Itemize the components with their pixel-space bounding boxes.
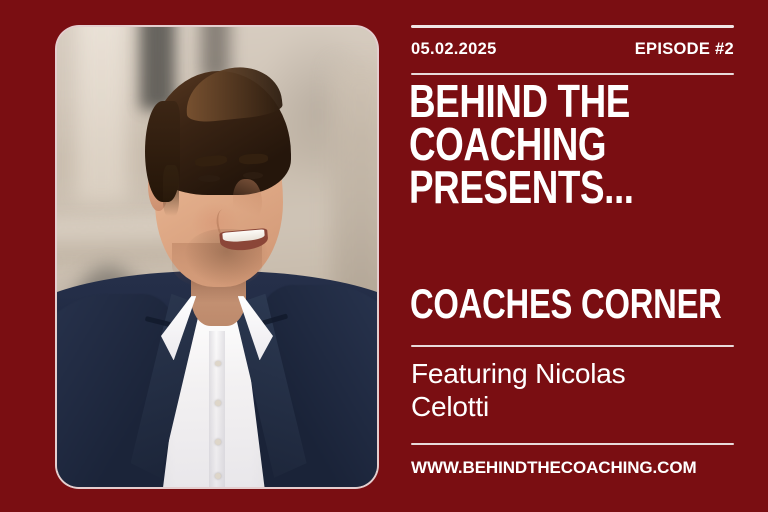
subject-shirt-placket xyxy=(209,331,225,487)
featuring-guest: Featuring Nicolas Celotti xyxy=(411,358,701,424)
subject-eye-left xyxy=(198,175,220,182)
subject-shirt-button xyxy=(215,439,221,445)
divider-under-show-title xyxy=(411,345,734,347)
podcast-episode-poster: 05.02.2025 EPISODE #2 BEHIND THE COACHIN… xyxy=(0,0,768,512)
subject-nose xyxy=(233,179,262,225)
show-title: COACHES CORNER xyxy=(410,283,722,325)
photo-subject xyxy=(57,27,377,487)
guest-photo-card xyxy=(57,27,377,487)
divider-top xyxy=(411,25,734,28)
website-url: WWW.BEHINDTHECOACHING.COM xyxy=(411,458,697,478)
subject-shirt-button xyxy=(215,400,221,406)
divider-above-website xyxy=(411,443,734,445)
poster-text-column: 05.02.2025 EPISODE #2 BEHIND THE COACHIN… xyxy=(411,0,734,512)
episode-date: 05.02.2025 xyxy=(411,40,497,59)
poster-headline: BEHIND THE COACHING PRESENTS... xyxy=(409,80,681,208)
guest-photo xyxy=(57,27,377,487)
episode-number: EPISODE #2 xyxy=(635,40,734,59)
subject-teeth xyxy=(222,229,265,243)
subject-sideburn xyxy=(163,165,179,216)
episode-meta-row: 05.02.2025 EPISODE #2 xyxy=(411,40,734,59)
